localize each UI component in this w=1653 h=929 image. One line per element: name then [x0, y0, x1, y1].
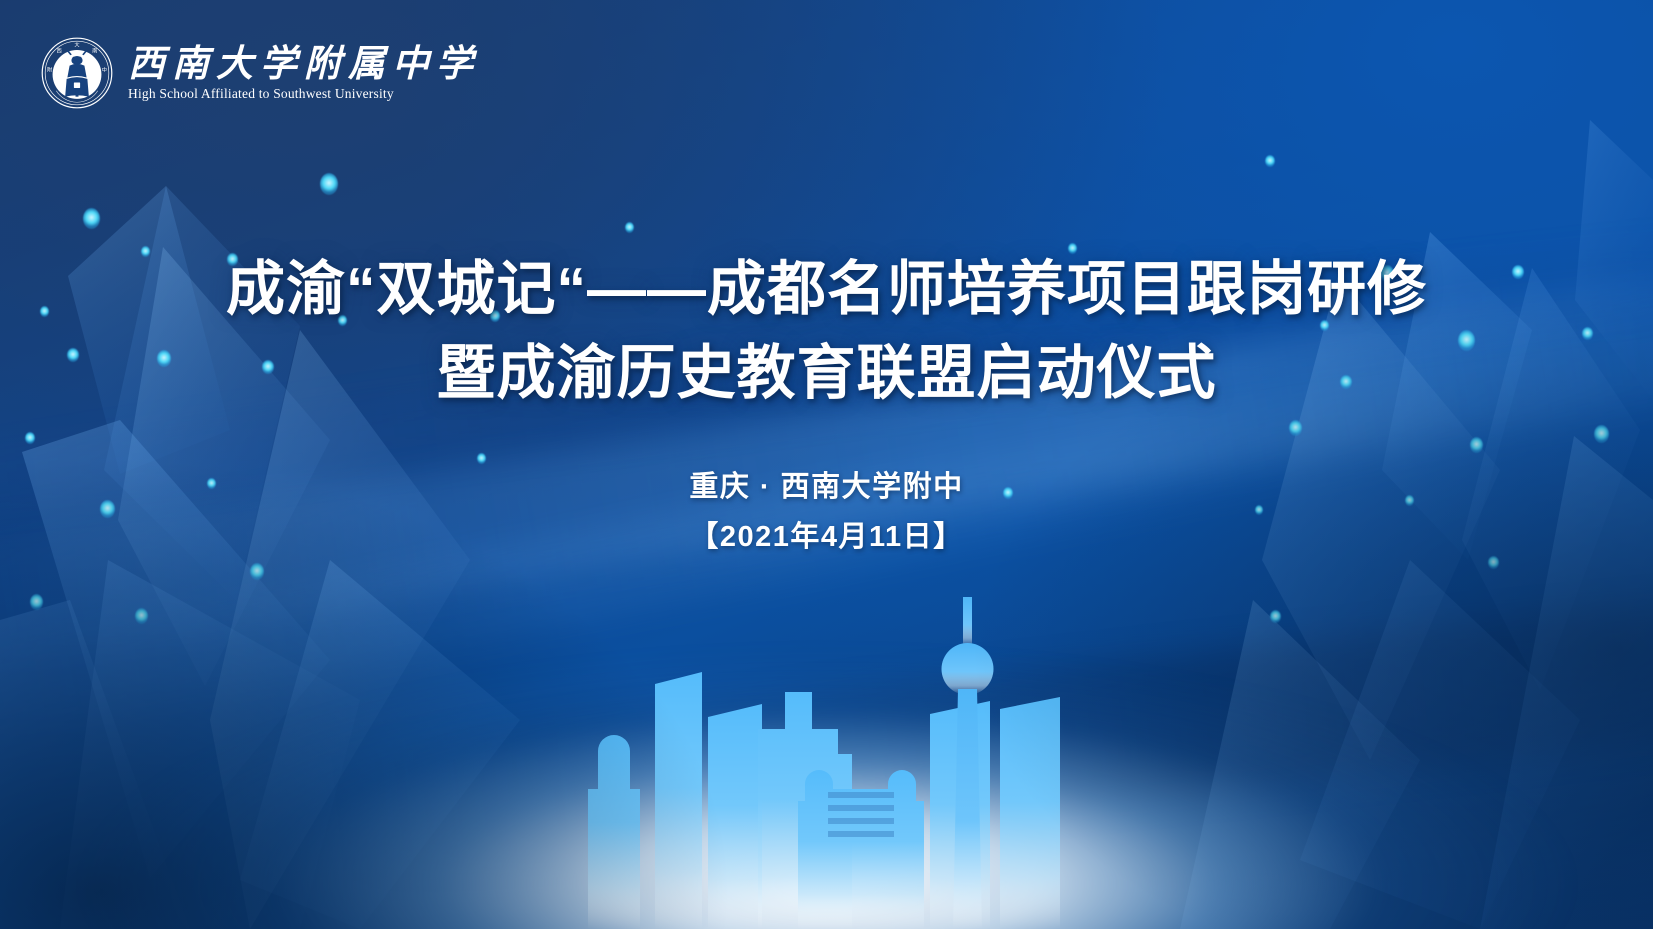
svg-text:南: 南 — [92, 46, 97, 54]
title-line-1: 成渝“双城记“——成都名师培养项目跟岗研修 — [0, 248, 1653, 332]
poster-canvas: 大 西 南 附 中 — [0, 0, 1653, 929]
subtitle-venue: 重庆 · 西南大学附中 — [0, 463, 1653, 513]
main-title: 成渝“双城记“——成都名师培养项目跟岗研修 暨成渝历史教育联盟启动仪式 — [0, 248, 1653, 416]
subtitle-block: 重庆 · 西南大学附中 【2021年4月11日】 — [0, 463, 1653, 563]
school-logo: 大 西 南 附 中 — [40, 36, 480, 110]
title-line-2: 暨成渝历史教育联盟启动仪式 — [0, 332, 1653, 416]
svg-text:中: 中 — [102, 66, 107, 74]
school-name-cn: 西南大学附属中学 — [128, 46, 480, 85]
subtitle-date: 【2021年4月11日】 — [0, 513, 1653, 563]
school-crest-icon: 大 西 南 附 中 — [40, 36, 114, 110]
school-name-en: High School Affiliated to Southwest Univ… — [128, 86, 394, 102]
svg-text:附: 附 — [47, 66, 52, 74]
svg-text:西: 西 — [57, 47, 62, 54]
